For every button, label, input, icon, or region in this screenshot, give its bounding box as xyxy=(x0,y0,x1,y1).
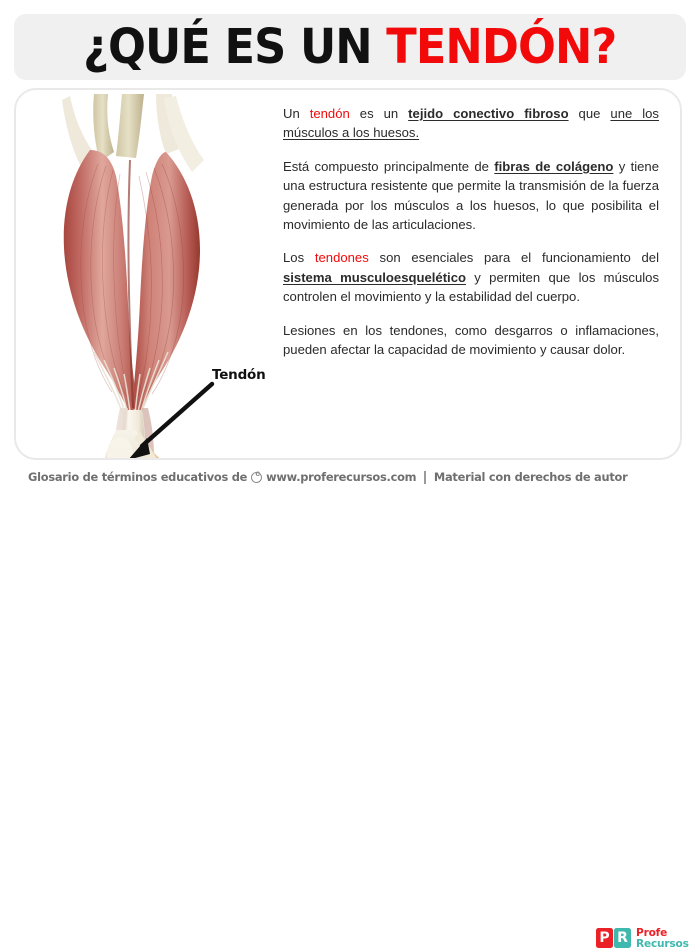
text-run-plain: Lesiones en los tendones, como desgarros… xyxy=(283,323,659,357)
title-bar: ¿QUÉ ES UN TENDÓN? xyxy=(14,14,686,80)
logo-word-recursos: Recursos xyxy=(636,939,689,950)
text-run-red: tendón xyxy=(310,106,350,121)
text-run-plain: Los xyxy=(283,250,315,265)
text-run-bold-underline: sistema musculoesquelético xyxy=(283,270,466,285)
paragraph-1: Un tendón es un tejido conectivo fibroso… xyxy=(283,104,659,143)
copyright-icon xyxy=(251,472,262,483)
bone-shaft-center xyxy=(116,94,144,158)
proferecursos-logo[interactable]: P R Profe Recursos xyxy=(596,928,680,952)
description-text-column: Un tendón es un tejido conectivo fibroso… xyxy=(283,104,659,448)
tendon-callout-label: Tendón xyxy=(212,367,266,383)
calf-muscle-achilles-tendon-illustration xyxy=(16,90,278,458)
paragraph-2: Está compuesto principalmente de fibras … xyxy=(283,157,659,235)
paragraph-4: Lesiones en los tendones, como desgarros… xyxy=(283,321,659,360)
footer-site-link[interactable]: www.proferecursos.com xyxy=(266,470,416,484)
content-card: Tendón Un tendón es un tejido conectivo … xyxy=(14,88,682,460)
footer-rights: Material con derechos de autor xyxy=(434,470,628,484)
text-run-plain: Está compuesto principalmente de xyxy=(283,159,494,174)
paragraph-3: Los tendones son esenciales para el func… xyxy=(283,248,659,306)
footer-bar: Glosario de términos educativos de www.p… xyxy=(0,462,700,495)
text-run-bold-underline: tejido conectivo fibroso xyxy=(408,106,568,121)
page-title: ¿QUÉ ES UN TENDÓN? xyxy=(83,23,616,71)
text-run-plain: son esenciales para el funcionamiento de… xyxy=(369,250,659,265)
logo-badge-r: R xyxy=(614,928,631,948)
footer-lead: Glosario de términos educativos de xyxy=(28,470,247,484)
page-title-prefix: ¿QUÉ ES UN xyxy=(83,19,386,75)
logo-word-profe: Profe xyxy=(636,928,667,939)
text-run-bold-underline: fibras de colágeno xyxy=(494,159,613,174)
text-run-plain: Un xyxy=(283,106,310,121)
text-run-red: tendones xyxy=(315,250,369,265)
text-run-plain: es un xyxy=(350,106,408,121)
footer-credit: Glosario de términos educativos de www.p… xyxy=(28,470,628,484)
footer-divider xyxy=(424,471,426,484)
page-title-highlight: TENDÓN? xyxy=(387,19,617,75)
logo-badge-p: P xyxy=(596,928,613,948)
text-run-plain: que xyxy=(569,106,611,121)
